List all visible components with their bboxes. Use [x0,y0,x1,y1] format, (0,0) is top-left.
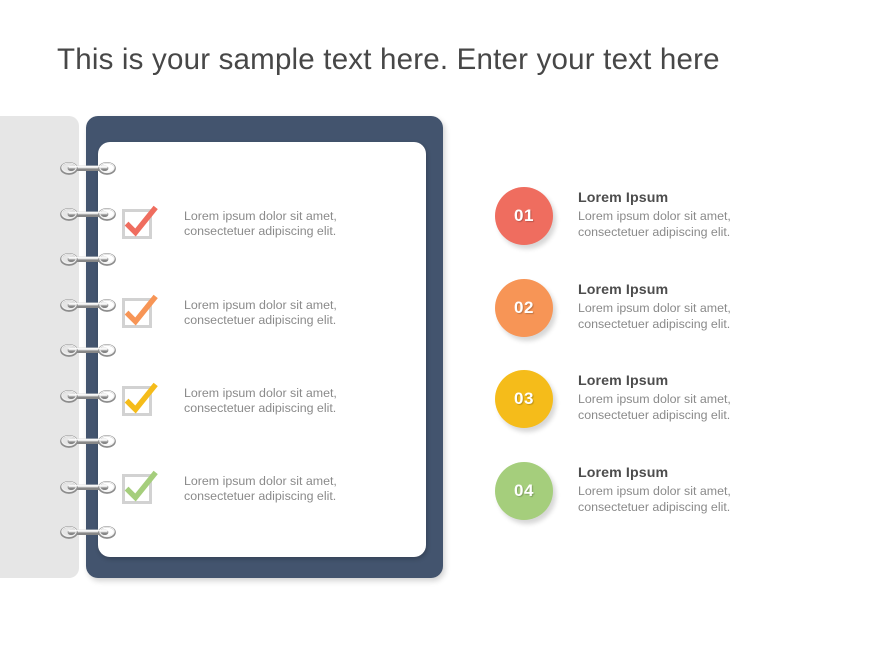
checkbox[interactable] [120,470,158,508]
numbered-item-heading: Lorem Ipsum [578,282,838,298]
checklist-item[interactable]: Lorem ipsum dolor sit amet, consectetuer… [120,288,420,338]
number-badge[interactable]: 02 [495,279,553,337]
number-badge[interactable]: 03 [495,370,553,428]
checkbox[interactable] [120,382,158,420]
number-badge-label: 03 [514,389,534,409]
checklist-item-text: Lorem ipsum dolor sit amet, consectetuer… [184,298,337,329]
page-title: This is your sample text here. Enter you… [57,43,720,77]
notebook-graphic: Lorem ipsum dolor sit amet, consectetuer… [0,116,460,586]
number-badge[interactable]: 04 [495,462,553,520]
number-badge-label: 02 [514,298,534,318]
check-icon [120,294,158,332]
numbered-item-texts: Lorem IpsumLorem ipsum dolor sit amet, c… [578,373,838,423]
numbered-item-texts: Lorem IpsumLorem ipsum dolor sit amet, c… [578,190,838,240]
numbered-item[interactable]: 02Lorem IpsumLorem ipsum dolor sit amet,… [490,279,840,359]
numbered-item-heading: Lorem Ipsum [578,465,838,481]
number-badge-label: 04 [514,481,534,501]
check-icon [120,470,158,508]
check-icon [120,205,158,243]
numbered-item-heading: Lorem Ipsum [578,373,838,389]
checklist: Lorem ipsum dolor sit amet, consectetuer… [0,116,460,586]
check-icon [120,382,158,420]
numbered-item-body: Lorem ipsum dolor sit amet, consectetuer… [578,209,838,240]
numbered-item-texts: Lorem IpsumLorem ipsum dolor sit amet, c… [578,465,838,515]
numbered-item-texts: Lorem IpsumLorem ipsum dolor sit amet, c… [578,282,838,332]
numbered-item[interactable]: 01Lorem IpsumLorem ipsum dolor sit amet,… [490,187,840,267]
checklist-item-text: Lorem ipsum dolor sit amet, consectetuer… [184,474,337,505]
checkbox[interactable] [120,205,158,243]
numbered-item-list: 01Lorem IpsumLorem ipsum dolor sit amet,… [490,176,840,556]
number-badge[interactable]: 01 [495,187,553,245]
checkbox[interactable] [120,294,158,332]
checklist-item-text: Lorem ipsum dolor sit amet, consectetuer… [184,386,337,417]
numbered-item[interactable]: 04Lorem IpsumLorem ipsum dolor sit amet,… [490,462,840,542]
numbered-item-body: Lorem ipsum dolor sit amet, consectetuer… [578,392,838,423]
checklist-item[interactable]: Lorem ipsum dolor sit amet, consectetuer… [120,199,420,249]
numbered-item[interactable]: 03Lorem IpsumLorem ipsum dolor sit amet,… [490,370,840,450]
numbered-item-heading: Lorem Ipsum [578,190,838,206]
numbered-item-body: Lorem ipsum dolor sit amet, consectetuer… [578,484,838,515]
checklist-item[interactable]: Lorem ipsum dolor sit amet, consectetuer… [120,376,420,426]
number-badge-label: 01 [514,206,534,226]
numbered-item-body: Lorem ipsum dolor sit amet, consectetuer… [578,301,838,332]
checklist-item[interactable]: Lorem ipsum dolor sit amet, consectetuer… [120,464,420,514]
checklist-item-text: Lorem ipsum dolor sit amet, consectetuer… [184,209,337,240]
